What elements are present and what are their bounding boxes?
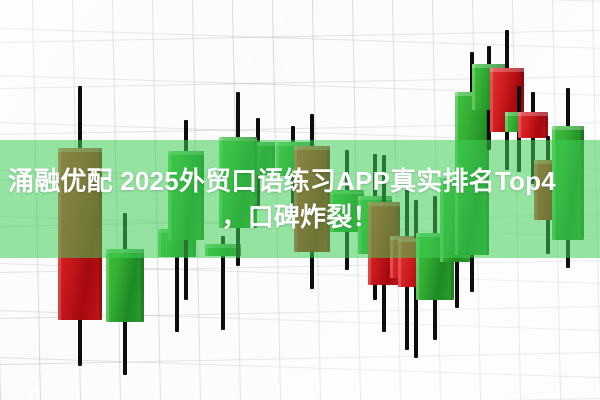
candlestick-chart — [0, 0, 600, 400]
banner-headline-line-1: 涌融优配 2025外贸口语练习APP真实排名Top4 — [0, 166, 600, 196]
candle-body-up — [106, 249, 144, 322]
candlestick-banner-image: 涌融优配 2025外贸口语练习APP真实排名Top4 ，口碑炸裂！ — [0, 0, 600, 400]
candle-2 — [106, 213, 144, 375]
banner-headline-line-2: ，口碑炸裂！ — [0, 202, 600, 232]
candle-body-down — [294, 146, 330, 252]
candle-body-down — [518, 112, 548, 138]
